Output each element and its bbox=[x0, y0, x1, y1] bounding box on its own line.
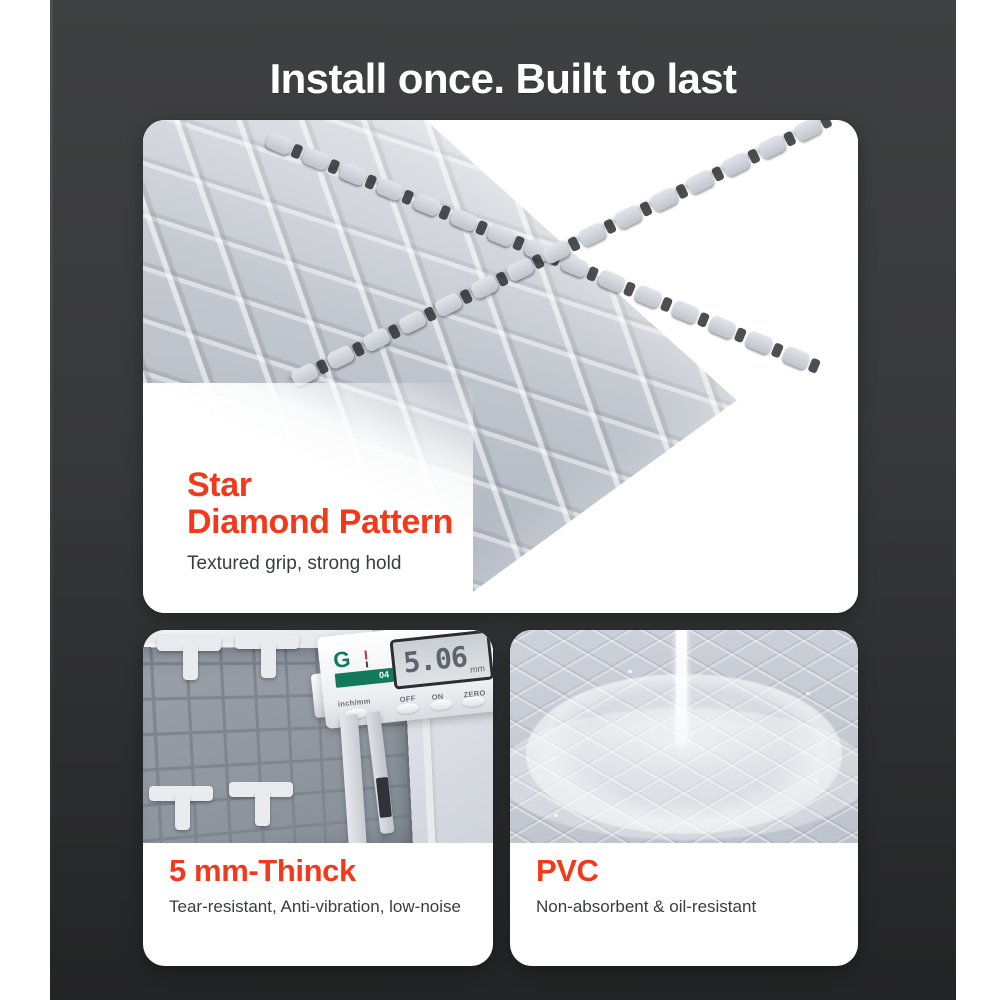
feature-card-material: PVC Non-absorbent & oil-resistant bbox=[510, 630, 858, 966]
hero-kicker: Star Diamond Pattern bbox=[187, 467, 453, 540]
caliper-dark-tick bbox=[366, 661, 369, 667]
infographic-canvas: Install once. Built to last Star Diamond… bbox=[0, 0, 1000, 1000]
water-droplet bbox=[554, 814, 558, 817]
hero-caption: Star Diamond Pattern Textured grip, stro… bbox=[187, 467, 453, 577]
material-caption: PVC Non-absorbent & oil-resistant bbox=[536, 854, 756, 919]
tile-tab bbox=[670, 299, 701, 325]
tile-tab bbox=[261, 642, 276, 678]
material-kicker: PVC bbox=[536, 854, 756, 887]
tile-tab bbox=[757, 134, 788, 161]
thickness-kicker: 5 mm-Thinck bbox=[169, 854, 461, 887]
water-droplet bbox=[806, 692, 810, 695]
caliper-red-tick bbox=[364, 650, 367, 659]
caliper-band-label: 04 bbox=[379, 669, 390, 680]
caliper-button[interactable] bbox=[430, 699, 453, 711]
feature-card-pattern: Star Diamond Pattern Textured grip, stro… bbox=[143, 120, 858, 613]
water-stream bbox=[676, 630, 687, 746]
caliper-measurement-unit: mm bbox=[469, 663, 485, 678]
hero-subtext: Textured grip, strong hold bbox=[187, 552, 453, 577]
tile-tab bbox=[707, 314, 738, 340]
tile-tab bbox=[633, 284, 664, 310]
tile-tab bbox=[175, 794, 190, 830]
digital-caliper: G 04 5.06 mm inch/mm OFF ON ZERO bbox=[306, 630, 493, 843]
material-subtext: Non-absorbent & oil-resistant bbox=[536, 896, 756, 918]
caliper-lcd-display: 5.06 mm bbox=[389, 630, 493, 690]
water-test-image bbox=[510, 630, 858, 843]
caliper-measurement-value: 5.06 bbox=[402, 643, 468, 677]
tile-tab bbox=[721, 151, 752, 178]
thickness-caption: 5 mm-Thinck Tear-resistant, Anti-vibrati… bbox=[169, 854, 461, 919]
caliper-button[interactable] bbox=[462, 695, 485, 707]
caliper-image: G 04 5.06 mm inch/mm OFF ON ZERO bbox=[143, 630, 493, 843]
caliper-button-row: inch/mm OFF ON ZERO bbox=[335, 682, 493, 726]
tile-tab bbox=[793, 120, 824, 143]
water-droplet bbox=[814, 780, 818, 783]
caliper-jaw-outer bbox=[340, 714, 368, 843]
tile-tab bbox=[781, 345, 812, 371]
tile-tab bbox=[255, 790, 270, 826]
tile-tab bbox=[577, 221, 608, 248]
thickness-subtext: Tear-resistant, Anti-vibration, low-nois… bbox=[169, 896, 461, 918]
tile-tab bbox=[649, 186, 680, 213]
caliper-button[interactable] bbox=[396, 702, 419, 714]
caliper-key-label-inchmm: inch/mm bbox=[337, 696, 371, 708]
tile-tab bbox=[613, 204, 644, 231]
tile-tab bbox=[183, 644, 198, 680]
tile-tab bbox=[744, 330, 775, 356]
tile-tab bbox=[685, 169, 716, 196]
water-droplet bbox=[628, 670, 632, 673]
caliper-brand-logo: G bbox=[332, 646, 352, 674]
page-title: Install once. Built to last bbox=[50, 55, 956, 103]
feature-card-thickness: G 04 5.06 mm inch/mm OFF ON ZERO bbox=[143, 630, 493, 966]
